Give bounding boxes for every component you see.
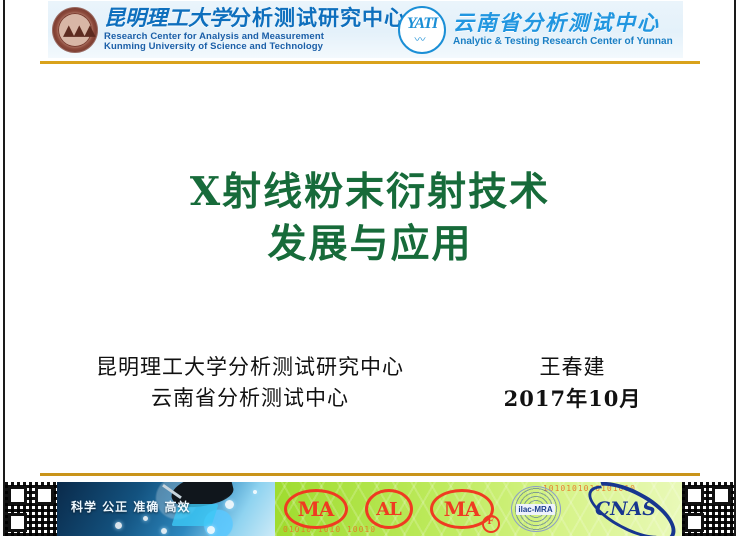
- qr-code-left-icon: [5, 482, 57, 536]
- cnas-text: CNAS: [595, 498, 656, 520]
- footer-strip: 科学 公正 准确 高效 1010101010101010 01010 1010 …: [5, 482, 734, 536]
- yati-logo-text: YATI: [400, 15, 444, 33]
- network-node-4: [225, 500, 234, 509]
- qr-code-right-icon: [682, 482, 734, 536]
- cma-f-certification-logo: MA F: [430, 489, 494, 529]
- network-node-2: [143, 516, 148, 521]
- yati-wave-icon: 〰: [408, 35, 432, 45]
- kust-chinese-name: 昆明理工大学分析测试研究中心: [104, 8, 406, 29]
- ilac-mra-logo: ilac-MRA: [511, 486, 561, 532]
- presentation-date: 2017年10月: [465, 383, 680, 414]
- affiliation-block: 昆明理工大学分析测试研究中心 云南省分析测试中心: [60, 352, 440, 414]
- cal-oval: AL: [365, 489, 413, 529]
- presentation-slide: ▲▲▲ 昆明理工大学分析测试研究中心 Research Center for A…: [0, 0, 740, 536]
- kust-text-group: 昆明理工大学分析测试研究中心 Research Center for Analy…: [104, 8, 406, 52]
- yati-organization-block: YATI 〰 云南省分析测试中心 Analytic & Testing Rese…: [396, 1, 673, 58]
- affiliation-line-2: 云南省分析测试中心: [60, 383, 440, 414]
- network-node-6: [253, 490, 257, 494]
- cma-certification-logo: MA: [284, 489, 348, 529]
- author-block: 王春建 2017年10月: [465, 352, 680, 414]
- ilac-globe-icon: ilac-MRA: [511, 486, 561, 532]
- ilac-label: ilac-MRA: [516, 504, 554, 515]
- affiliation-line-1: 昆明理工大学分析测试研究中心: [60, 352, 440, 383]
- kust-chinese-suffix: 分析测试研究中心: [230, 6, 406, 30]
- yati-circle-icon: YATI 〰: [398, 6, 446, 54]
- header-banner: ▲▲▲ 昆明理工大学分析测试研究中心 Research Center for A…: [48, 1, 683, 58]
- cal-certification-logo: AL: [365, 489, 413, 529]
- network-node-1: [115, 522, 122, 529]
- kust-english-line-1: Research Center for Analysis and Measure…: [104, 32, 406, 42]
- cma-oval: MA: [284, 489, 348, 529]
- yati-english-line: Analytic & Testing Research Center of Yu…: [453, 37, 673, 47]
- cnas-logo: CNAS: [578, 488, 674, 530]
- kust-seal-icon: ▲▲▲: [52, 7, 98, 53]
- cma-f-suffix: F: [482, 515, 500, 533]
- slide-title-line-2: 发展与应用: [0, 218, 740, 270]
- tech-banner-image: 科学 公正 准确 高效: [57, 482, 275, 536]
- slide-title: X射线粉末衍射技术 发展与应用: [0, 166, 740, 270]
- qr-right-finder-bottom: [685, 513, 704, 532]
- header-gold-rule: [40, 61, 700, 64]
- yati-text-group: 云南省分析测试中心 Analytic & Testing Research Ce…: [453, 13, 673, 47]
- kust-seal-emblem: ▲▲▲: [63, 22, 87, 38]
- qr-left-finder-bottom: [8, 513, 27, 532]
- footer-gold-rule: [40, 473, 700, 476]
- yati-chinese-name: 云南省分析测试中心: [453, 13, 673, 34]
- cnas-mark: CNAS: [578, 488, 674, 530]
- kust-organization-block: ▲▲▲ 昆明理工大学分析测试研究中心 Research Center for A…: [48, 1, 396, 58]
- network-node-5: [207, 526, 215, 534]
- network-node-3: [161, 528, 167, 534]
- certification-band: 1010101010101010 01010 1010 10010 MA AL …: [275, 482, 682, 536]
- author-name: 王春建: [465, 352, 680, 383]
- kust-english-line-2: Kunming University of Science and Techno…: [104, 42, 406, 52]
- tech-banner-slogan: 科学 公正 准确 高效: [71, 498, 191, 515]
- slide-meta-block: 昆明理工大学分析测试研究中心 云南省分析测试中心 王春建 2017年10月: [60, 352, 680, 414]
- slide-title-line-1: X射线粉末衍射技术: [0, 166, 740, 218]
